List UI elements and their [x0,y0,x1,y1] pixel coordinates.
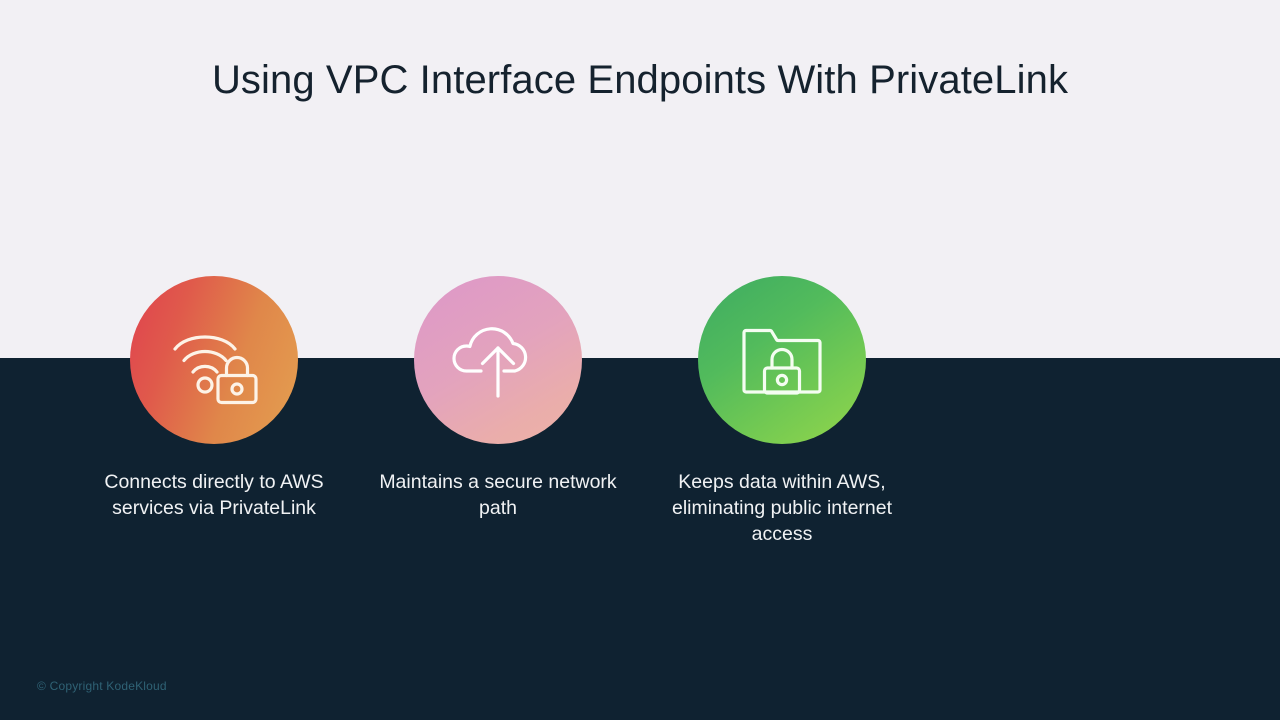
icon-circle-1 [130,276,298,444]
folder-lock-icon [730,308,834,412]
feature-card-2: Maintains a secure network path [348,276,648,522]
wifi-lock-icon [162,308,266,412]
page-title: Using VPC Interface Endpoints With Priva… [0,56,1280,104]
feature-caption-2: Maintains a secure network path [368,470,628,522]
feature-caption-1: Connects directly to AWS services via Pr… [84,470,344,522]
icon-circle-3 [698,276,866,444]
copyright-footer: © Copyright KodeKloud [37,679,167,693]
feature-cards: Connects directly to AWS services via Pr… [0,276,1280,576]
icon-circle-2 [414,276,582,444]
slide: Using VPC Interface Endpoints With Priva… [0,0,1280,720]
feature-caption-3: Keeps data within AWS, eliminating publi… [652,470,912,548]
feature-card-3: Keeps data within AWS, eliminating publi… [632,276,932,548]
feature-card-1: Connects directly to AWS services via Pr… [64,276,364,522]
cloud-upload-icon [446,308,550,412]
